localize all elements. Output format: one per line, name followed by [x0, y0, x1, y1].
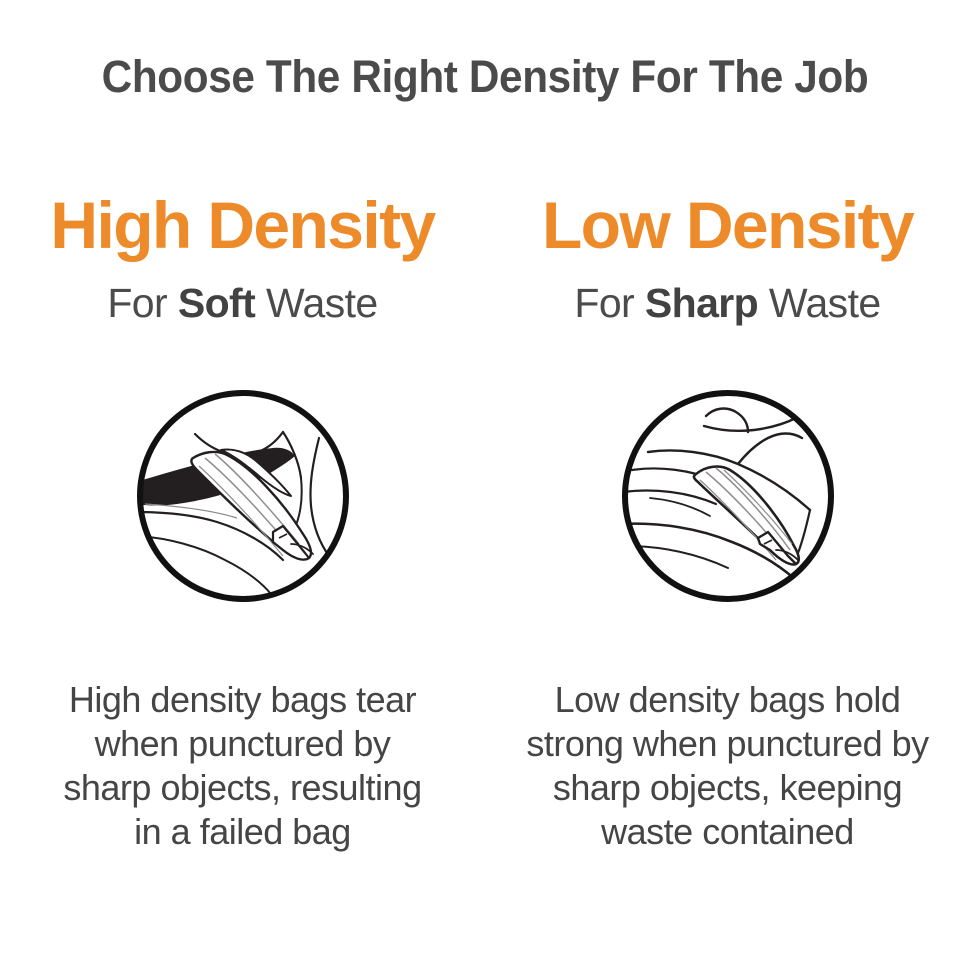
page-title: Choose The Right Density For The Job: [29, 52, 941, 102]
low-density-subheading-suffix: Waste: [758, 280, 880, 326]
column-low-density: Low Density For Sharp Waste: [485, 185, 970, 854]
caption-line: in a failed bag: [23, 810, 463, 854]
low-density-caption: Low density bags hold strong when punctu…: [508, 678, 948, 854]
low-density-subheading: For Sharp Waste: [574, 281, 880, 326]
high-density-heading: High Density: [50, 185, 434, 265]
low-density-heading: Low Density: [542, 185, 913, 265]
high-density-subheading: For Soft Waste: [107, 281, 377, 326]
caption-line: waste contained: [508, 810, 948, 854]
low-density-subheading-prefix: For: [574, 280, 645, 326]
caption-line: strong when punctured by: [508, 722, 948, 766]
high-density-subheading-prefix: For: [107, 280, 178, 326]
comparison-columns: High Density For Soft Waste: [0, 185, 970, 854]
caption-line: sharp objects, keeping: [508, 766, 948, 810]
high-density-caption: High density bags tear when punctured by…: [23, 678, 463, 854]
intact-bag-icon: [618, 386, 838, 606]
intact-bag-circle-illustration: [618, 386, 838, 606]
high-density-subheading-suffix: Waste: [255, 280, 377, 326]
density-comparison-infographic: Choose The Right Density For The Job Hig…: [0, 0, 970, 971]
caption-line: sharp objects, resulting: [23, 766, 463, 810]
caption-line: Low density bags hold: [508, 678, 948, 722]
torn-bag-circle-illustration: [133, 386, 353, 606]
column-high-density: High Density For Soft Waste: [0, 185, 485, 854]
high-density-subheading-emphasis: Soft: [178, 280, 255, 326]
low-density-subheading-emphasis: Sharp: [645, 280, 758, 326]
caption-line: when punctured by: [23, 722, 463, 766]
caption-line: High density bags tear: [23, 678, 463, 722]
torn-bag-icon: [133, 386, 353, 606]
